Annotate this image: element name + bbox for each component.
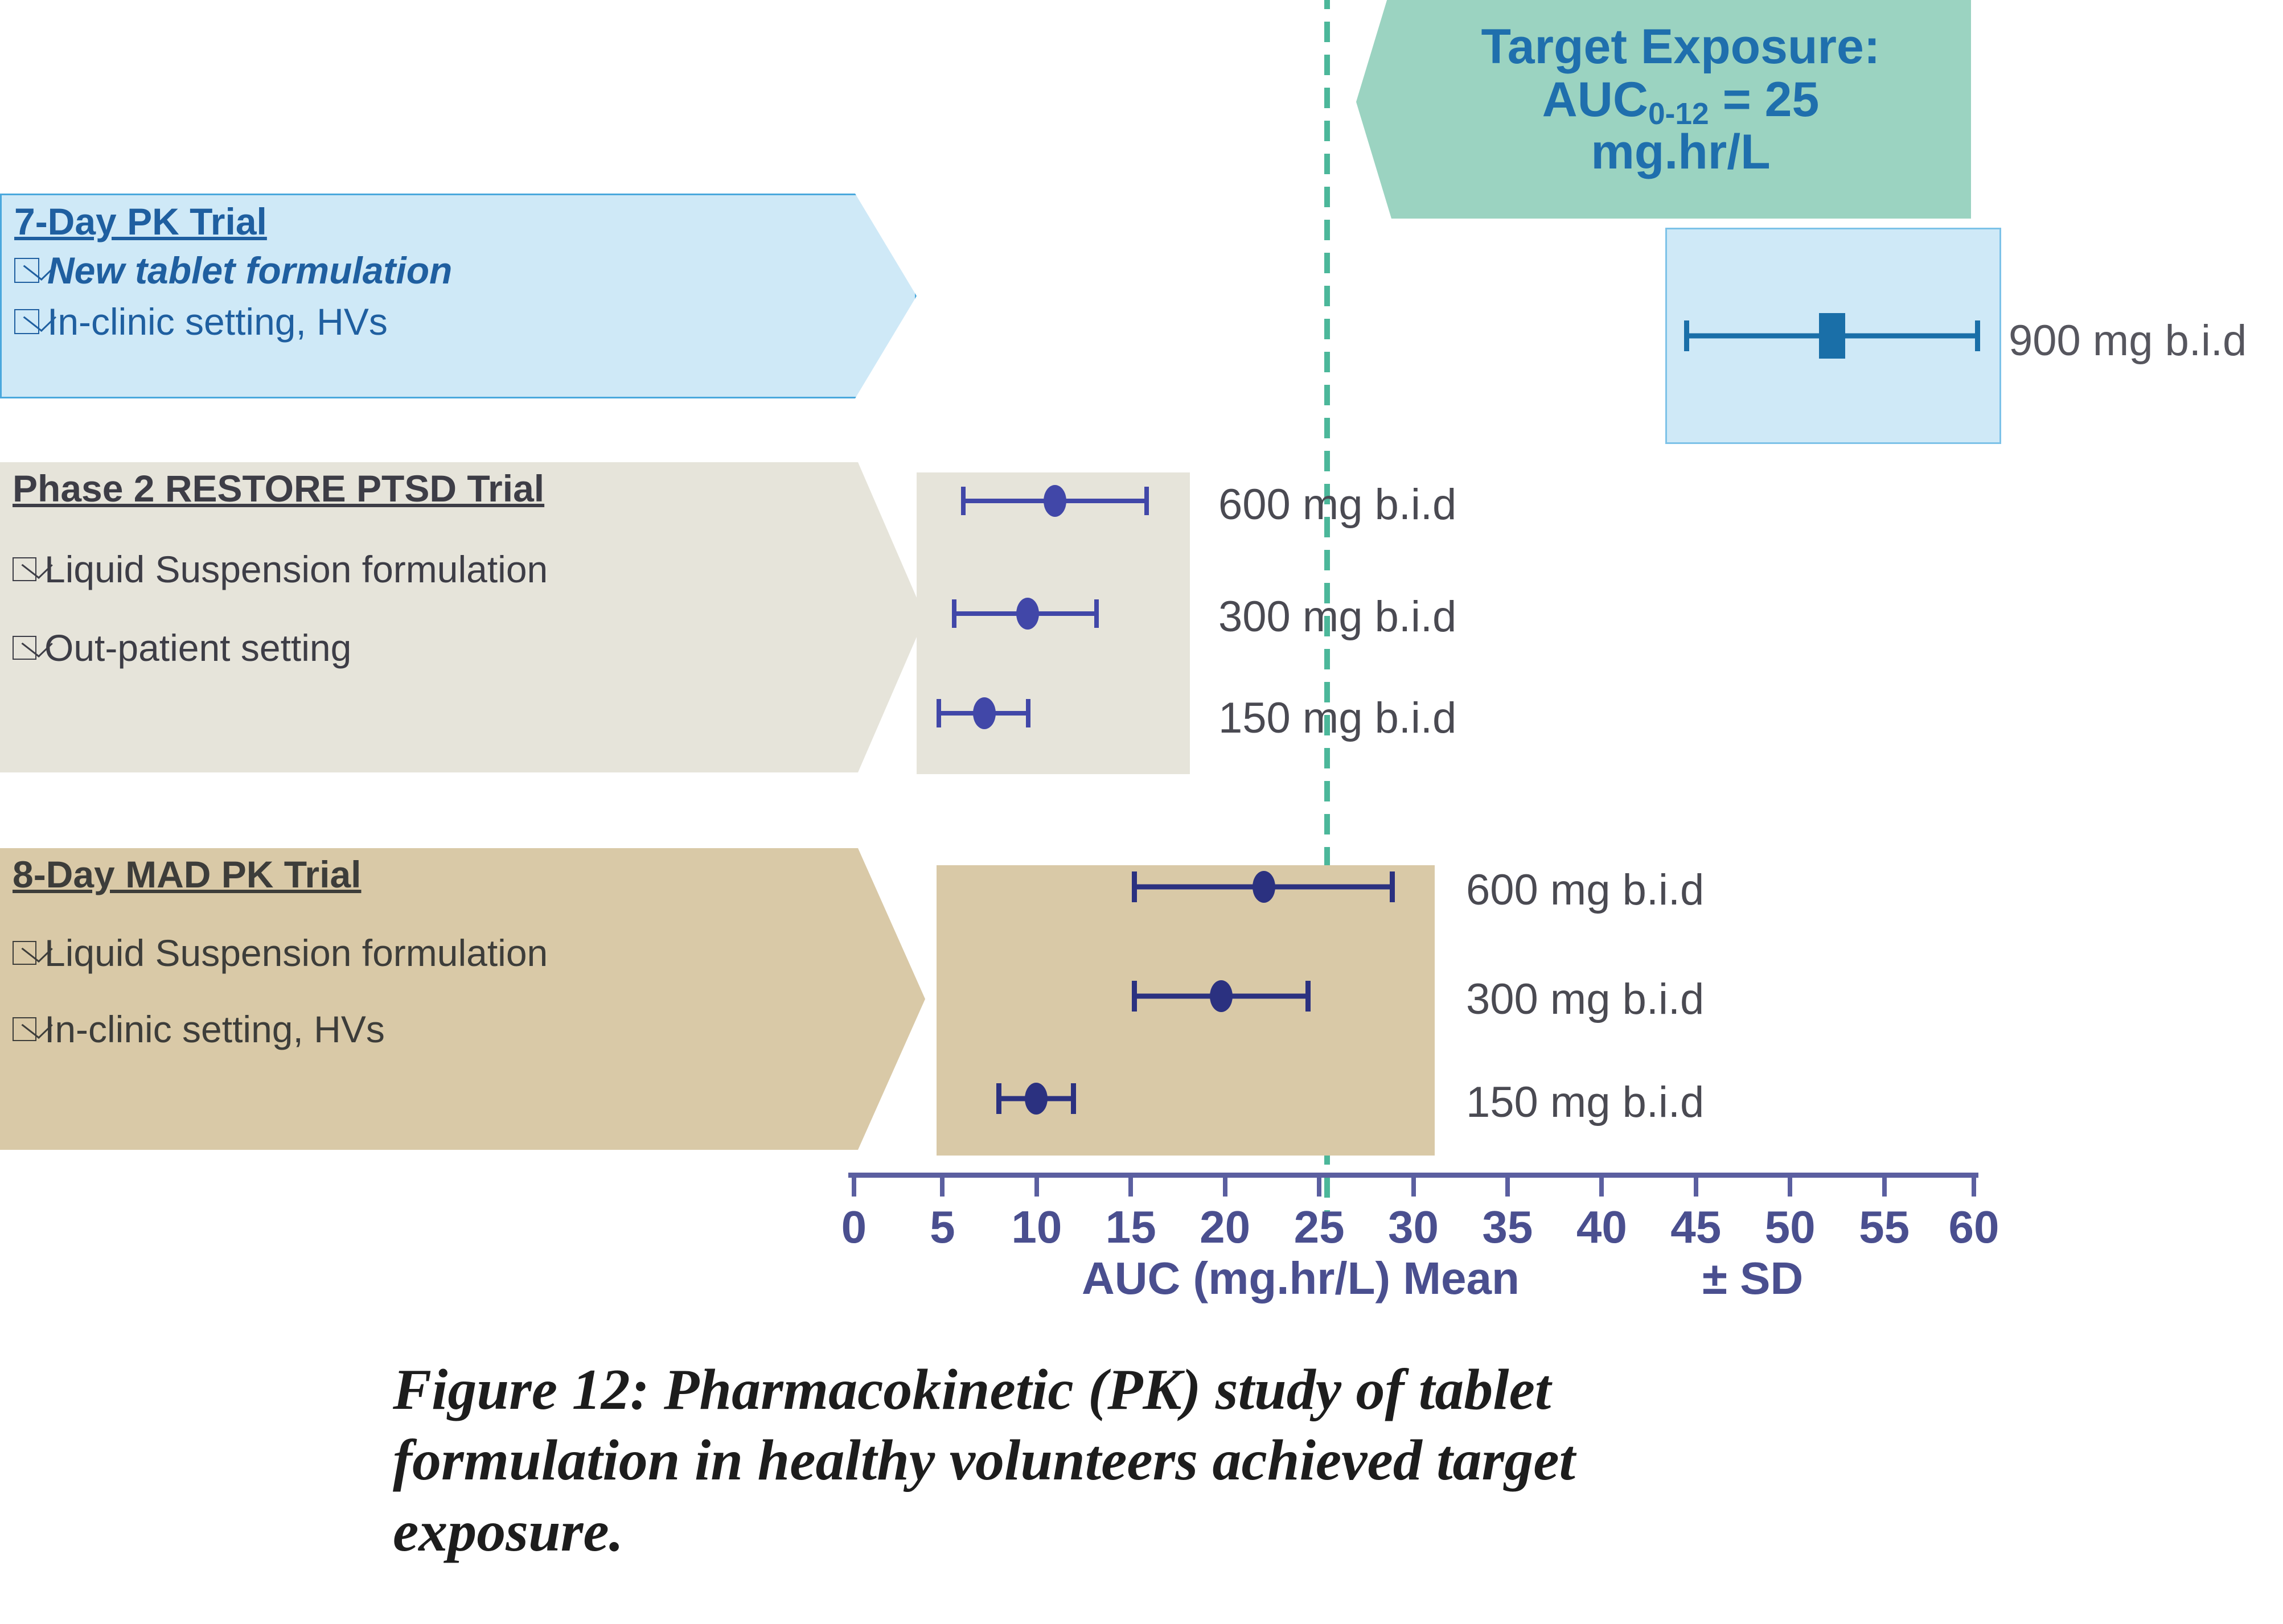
axis-tick-label: 55 xyxy=(1859,1201,1910,1253)
axis-tick xyxy=(1223,1173,1227,1197)
axis-tick-label: 60 xyxy=(1949,1201,1999,1253)
trial-bullet-label: New tablet formulation xyxy=(47,249,452,292)
axis-tick xyxy=(1128,1173,1133,1197)
trial-banner-8day-mad-pk: 8-Day MAD PK Trial Liquid Suspension for… xyxy=(0,848,925,1150)
error-bar-cap-high xyxy=(1975,320,1980,351)
axis-tick xyxy=(1034,1173,1039,1197)
axis-tick xyxy=(940,1173,945,1197)
x-axis-title-sd: ± SD xyxy=(1702,1252,1803,1305)
plot-panel-phase2-restore-ptsd xyxy=(917,472,1190,774)
caption-line-3: exposure. xyxy=(393,1496,2044,1567)
mean-marker-dot xyxy=(1210,980,1233,1012)
trial-bullet: Liquid Suspension formulation xyxy=(13,548,925,591)
error-bar-cap-high xyxy=(1071,1083,1076,1114)
axis-tick-label: 0 xyxy=(841,1201,867,1253)
trial-bullet: In-clinic setting, HVs xyxy=(14,300,915,343)
axis-tick-label: 45 xyxy=(1670,1201,1721,1253)
error-bar-cap-low xyxy=(952,599,956,628)
trial-banner-phase2-restore-ptsd: Phase 2 RESTORE PTSD Trial Liquid Suspen… xyxy=(0,462,925,772)
checkbox-checked-icon xyxy=(13,1017,36,1041)
dose-label-mad-150mg: 150 mg b.i.d xyxy=(1466,1078,1704,1127)
trial-bullet-label: Liquid Suspension formulation xyxy=(44,548,548,591)
figure-canvas: Target Exposure: AUC0-12 = 25 mg.hr/L 7-… xyxy=(0,0,2283,1624)
error-bar-cap-high xyxy=(1305,981,1311,1012)
axis-tick-label: 35 xyxy=(1482,1201,1533,1253)
target-exposure-callout: Target Exposure: AUC0-12 = 25 mg.hr/L xyxy=(1356,0,1971,219)
checkbox-checked-icon xyxy=(13,557,36,581)
mean-marker-dot xyxy=(973,697,996,729)
x-axis-title-main: AUC (mg.hr/L) Mean xyxy=(1082,1252,1520,1305)
error-bar-cap-low xyxy=(996,1083,1001,1114)
checkbox-checked-icon xyxy=(13,941,36,965)
axis-tick xyxy=(1694,1173,1698,1197)
trial-bullet: Liquid Suspension formulation xyxy=(13,931,925,975)
axis-tick xyxy=(1972,1173,1976,1197)
axis-tick-label: 15 xyxy=(1106,1201,1156,1253)
callout-line-2: AUC0-12 = 25 xyxy=(1542,73,1820,126)
plot-panel-8day-mad-pk xyxy=(937,865,1435,1156)
trial-bullets: Liquid Suspension formulation Out-patien… xyxy=(13,548,925,669)
axis-tick-label: 40 xyxy=(1576,1201,1627,1253)
axis-tick xyxy=(852,1173,856,1197)
trial-title: 7-Day PK Trial xyxy=(14,200,915,243)
axis-tick-label: 20 xyxy=(1200,1201,1250,1253)
mean-marker-dot xyxy=(1025,1083,1048,1115)
dose-label-ptsd-300mg: 300 mg b.i.d xyxy=(1218,592,1456,642)
axis-tick xyxy=(1317,1173,1321,1197)
trial-bullet: In-clinic setting, HVs xyxy=(13,1008,925,1051)
error-bar-cap-low xyxy=(961,487,966,515)
error-bar-cap-low xyxy=(1132,871,1137,902)
caption-line-1: Figure 12: Pharmacokinetic (PK) study of… xyxy=(393,1355,2044,1425)
axis-tick xyxy=(1505,1173,1510,1197)
trial-bullets: Liquid Suspension formulation In-clinic … xyxy=(13,931,925,1051)
axis-tick xyxy=(1599,1173,1604,1197)
trial-bullet-label: Liquid Suspension formulation xyxy=(44,931,548,975)
checkbox-checked-icon xyxy=(14,309,39,334)
trial-bullets: New tablet formulation In-clinic setting… xyxy=(14,249,915,343)
error-bar-cap-high xyxy=(1026,699,1030,727)
callout-subscript: 0-12 xyxy=(1648,97,1709,131)
mean-marker-square xyxy=(1819,313,1845,359)
mean-marker-dot xyxy=(1253,871,1275,903)
axis-tick-label: 30 xyxy=(1388,1201,1439,1253)
figure-caption: Figure 12: Pharmacokinetic (PK) study of… xyxy=(393,1355,2044,1567)
trial-bullet-label: In-clinic setting, HVs xyxy=(47,300,388,343)
trial-bullet-label: Out-patient setting xyxy=(44,626,351,669)
checkbox-checked-icon xyxy=(14,258,39,283)
callout-line-3: mg.hr/L xyxy=(1591,126,1770,179)
dose-label-ptsd-150mg: 150 mg b.i.d xyxy=(1218,693,1456,743)
checkbox-checked-icon xyxy=(13,636,36,660)
axis-tick-label: 25 xyxy=(1294,1201,1345,1253)
axis-tick xyxy=(1411,1173,1416,1197)
trial-title: Phase 2 RESTORE PTSD Trial xyxy=(13,467,925,510)
dose-label-mad-300mg: 300 mg b.i.d xyxy=(1466,975,1704,1024)
mean-marker-dot xyxy=(1044,485,1066,517)
error-bar-cap-high xyxy=(1094,599,1099,628)
trial-banner-7day-pk: 7-Day PK Trial New tablet formulation In… xyxy=(0,194,917,398)
dose-label-900mg: 900 mg b.i.d xyxy=(2009,316,2247,365)
trial-bullet-label: In-clinic setting, HVs xyxy=(44,1008,385,1051)
error-bar-cap-high xyxy=(1390,871,1395,902)
axis-tick xyxy=(1788,1173,1792,1197)
trial-title: 8-Day MAD PK Trial xyxy=(13,853,925,896)
dose-label-ptsd-600mg: 600 mg b.i.d xyxy=(1218,480,1456,529)
axis-tick xyxy=(1882,1173,1887,1197)
trial-bullet: Out-patient setting xyxy=(13,626,925,669)
trial-bullet: New tablet formulation xyxy=(14,249,915,292)
caption-line-2: formulation in healthy volunteers achiev… xyxy=(393,1425,2044,1496)
axis-tick-label: 5 xyxy=(930,1201,955,1253)
axis-tick-label: 10 xyxy=(1011,1201,1062,1253)
mean-marker-dot xyxy=(1016,598,1039,630)
error-bar-cap-low xyxy=(1684,320,1689,351)
error-bar-cap-low xyxy=(937,699,941,727)
error-bar-cap-high xyxy=(1144,487,1149,515)
axis-tick-label: 50 xyxy=(1765,1201,1816,1253)
error-bar-cap-low xyxy=(1132,981,1137,1012)
callout-line-1: Target Exposure: xyxy=(1481,20,1880,73)
dose-label-mad-600mg: 600 mg b.i.d xyxy=(1466,865,1704,915)
